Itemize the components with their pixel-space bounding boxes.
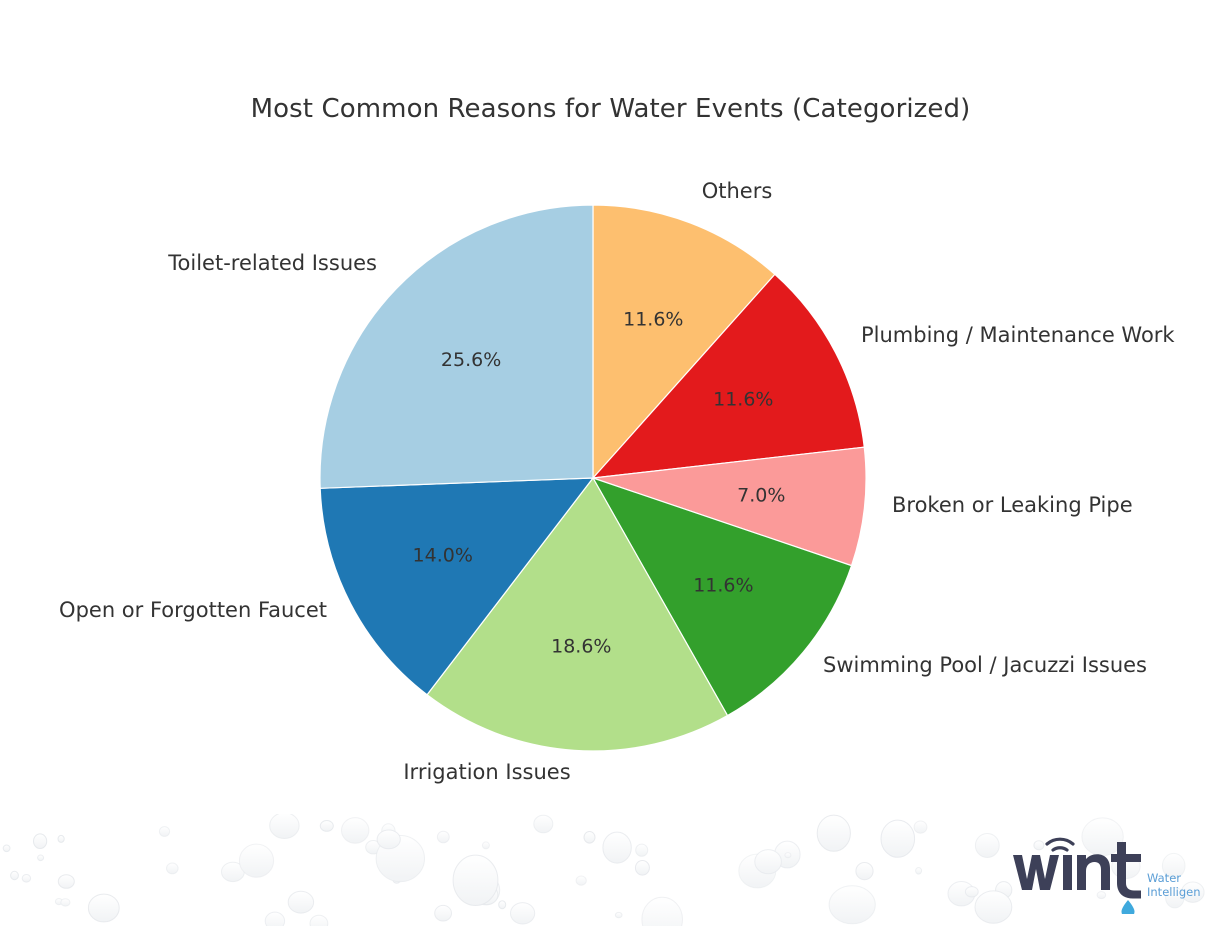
water-droplet — [603, 832, 631, 863]
pie-slice-label: Toilet-related Issues — [167, 251, 377, 275]
pie-slice-label: Broken or Leaking Pipe — [892, 493, 1133, 517]
water-droplet — [881, 820, 915, 857]
water-droplet — [636, 844, 648, 856]
water-droplet — [38, 855, 44, 861]
water-droplet — [914, 821, 927, 833]
water-droplet — [510, 903, 534, 924]
water-droplet — [584, 832, 595, 844]
pie-slices — [320, 205, 866, 751]
pie-slice-percentage: 11.6% — [623, 308, 683, 330]
pie-slice-percentage: 11.6% — [713, 389, 773, 411]
water-droplet — [916, 868, 922, 875]
water-droplet — [61, 899, 70, 906]
wint-wordmark — [1013, 842, 1141, 899]
pie-slice-label: Others — [702, 179, 773, 203]
pie-slice-percentage: 7.0% — [737, 485, 785, 507]
water-droplet — [265, 912, 284, 926]
water-droplet — [167, 863, 179, 874]
water-droplet — [975, 834, 999, 858]
wint-logo: Water Intelligence — [1011, 828, 1201, 914]
water-droplet — [435, 905, 452, 921]
water-droplet — [88, 894, 119, 922]
water-droplet — [576, 876, 586, 885]
water-droplet — [482, 842, 489, 849]
pie-slice-label: Irrigation Issues — [403, 760, 570, 784]
pie-slice-percentage: 25.6% — [441, 349, 501, 371]
water-droplet — [22, 875, 30, 883]
pie-slice-percentage: 11.6% — [693, 574, 753, 596]
water-droplet — [437, 831, 449, 843]
wint-logo-svg: Water Intelligence — [1011, 828, 1201, 914]
water-droplet — [534, 815, 553, 833]
logo-tagline-line2: Intelligence — [1147, 885, 1201, 899]
pie-chart: 11.6%11.6%7.0%11.6%18.6%14.0%25.6% Other… — [0, 0, 1221, 830]
pie-slice-label: Plumbing / Maintenance Work — [861, 323, 1175, 347]
water-droplet — [755, 850, 782, 874]
water-droplet — [975, 891, 1012, 923]
water-drop-icon — [1122, 900, 1135, 914]
water-droplet — [239, 844, 273, 877]
water-droplet — [829, 886, 875, 924]
water-droplet — [159, 827, 169, 837]
water-droplet — [58, 835, 64, 842]
water-droplet — [377, 830, 400, 849]
water-droplet — [965, 887, 978, 897]
water-droplet — [785, 853, 791, 858]
water-droplet — [499, 901, 506, 909]
water-droplet — [635, 861, 649, 876]
water-droplet — [58, 875, 74, 889]
water-droplet — [453, 855, 498, 905]
water-droplet — [817, 815, 850, 851]
water-droplet — [11, 871, 19, 879]
pie-slice-percentage: 14.0% — [413, 544, 473, 566]
pie-chart-svg: 11.6%11.6%7.0%11.6%18.6%14.0%25.6% Other… — [0, 0, 1221, 830]
water-droplet — [3, 845, 10, 852]
water-droplet — [856, 863, 873, 880]
water-droplet — [342, 818, 369, 844]
water-droplet — [34, 834, 47, 849]
pie-slice-label: Swimming Pool / Jacuzzi Issues — [823, 653, 1147, 677]
wifi-icon — [1047, 839, 1073, 850]
water-droplet — [288, 891, 313, 913]
pie-slice-percentage: 18.6% — [551, 635, 611, 657]
water-droplet — [320, 821, 333, 832]
logo-tagline-line1: Water — [1147, 871, 1181, 885]
pie-slice-label: Open or Forgotten Faucet — [59, 598, 327, 622]
water-droplet — [615, 912, 622, 917]
pie-slice[interactable] — [320, 205, 593, 488]
water-droplet — [270, 814, 299, 839]
